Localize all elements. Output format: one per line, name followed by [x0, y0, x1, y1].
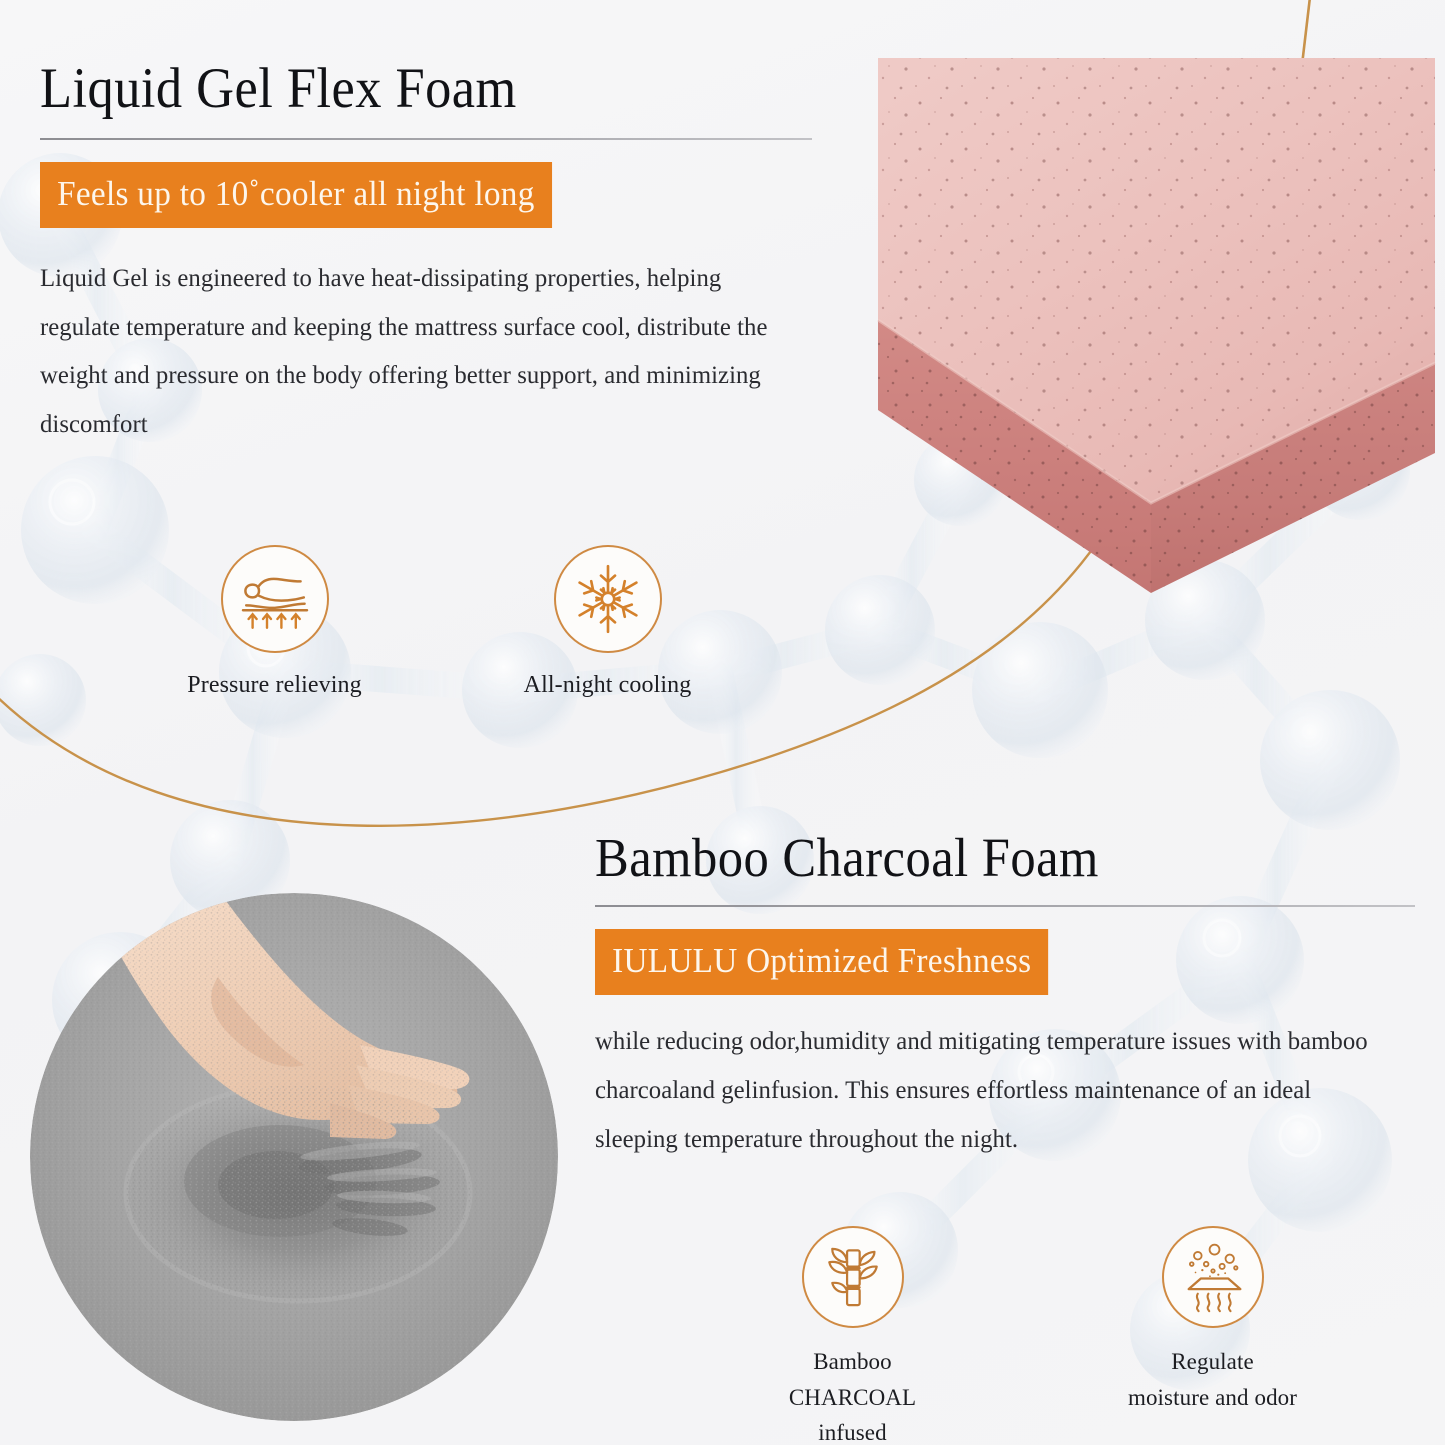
heading-divider	[595, 905, 1415, 907]
section-liquid-gel-body: Liquid Gel is engineered to have heat-di…	[40, 254, 806, 450]
section-liquid-gel: Liquid Gel Flex Foam Feels up to 10˚cool…	[40, 58, 830, 449]
feature-label-line2: CHARCOAL infused	[760, 1380, 945, 1445]
features-liquid-gel: Pressure relieving	[182, 545, 700, 704]
section-liquid-gel-heading: Liquid Gel Flex Foam	[40, 58, 767, 120]
section-liquid-gel-badge: Feels up to 10˚cooler all night long	[40, 162, 552, 228]
moisture-odor-regulation-icon	[1162, 1226, 1264, 1328]
section-bamboo-body: while reducing odor,humidity and mitigat…	[595, 1017, 1400, 1164]
feature-bamboo-charcoal-infused: Bamboo CHARCOAL infused	[760, 1226, 945, 1445]
feature-regulate-moisture-odor: Regulate moisture and odor	[1120, 1226, 1305, 1445]
pink-liquid-gel-foam-block-photo	[868, 48, 1445, 593]
feature-all-night-cooling: All-night cooling	[515, 545, 700, 704]
section-bamboo-heading: Bamboo Charcoal Foam	[595, 828, 1349, 887]
snowflake-icon	[554, 545, 662, 653]
feature-label-line1: Regulate	[1120, 1344, 1305, 1380]
feature-label: All-night cooling	[515, 667, 700, 704]
bamboo-stalk-icon	[802, 1226, 904, 1328]
feature-label-line1: Bamboo	[760, 1344, 945, 1380]
feature-label: Pressure relieving	[182, 667, 367, 704]
infographic-page: Liquid Gel Flex Foam Feels up to 10˚cool…	[0, 0, 1445, 1445]
section-bamboo-badge: IULULU Optimized Freshness	[595, 929, 1048, 995]
feature-pressure-relieving: Pressure relieving	[182, 545, 367, 704]
section-bamboo-charcoal: Bamboo Charcoal Foam IULULU Optimized Fr…	[595, 828, 1415, 1164]
feature-label: Regulate moisture and odor	[1120, 1344, 1305, 1415]
feature-label-line2: moisture and odor	[1120, 1380, 1305, 1416]
features-bamboo-charcoal: Bamboo CHARCOAL infused	[760, 1226, 1305, 1445]
person-on-mattress-arrows-icon	[221, 545, 329, 653]
feature-label: Bamboo CHARCOAL infused	[760, 1344, 945, 1445]
heading-divider	[40, 138, 812, 140]
hand-pressing-gray-memory-foam-photo	[30, 893, 558, 1421]
